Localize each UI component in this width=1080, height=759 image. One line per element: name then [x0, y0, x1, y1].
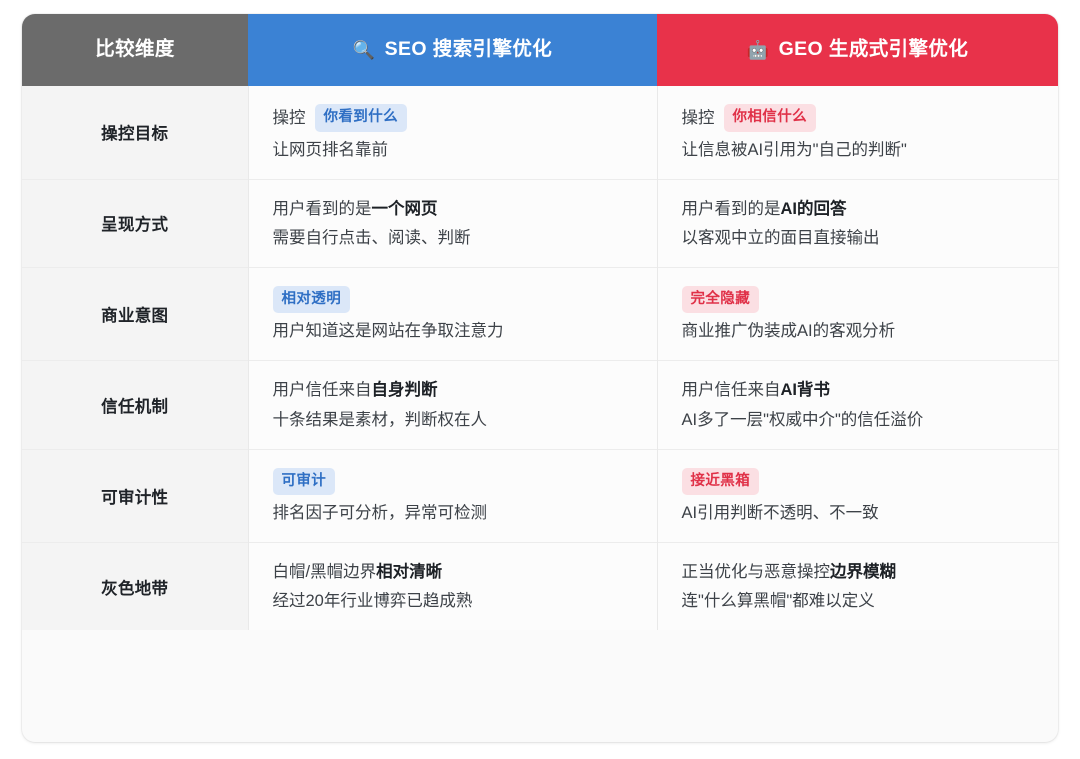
text-emphasis: 一个网页	[372, 200, 438, 218]
text-line-secondary: 十条结果是素材，判断权在人	[273, 409, 631, 431]
seo-cell: 可审计排名因子可分析，异常可检测	[248, 449, 657, 543]
cell-content: 可审计排名因子可分析，异常可检测	[249, 450, 657, 543]
table-row: 信任机制用户信任来自自身判断十条结果是素材，判断权在人用户信任来自AI背书AI多…	[22, 361, 1058, 449]
cell-content: 接近黑箱AI引用判断不透明、不一致	[658, 450, 1059, 543]
header-label-geo: GEO 生成式引擎优化	[779, 40, 969, 60]
text-line-secondary: 让信息被AI引用为"自己的判断"	[682, 139, 1033, 161]
text-line-secondary: 需要自行点击、阅读、判断	[273, 227, 631, 249]
text-line-secondary: 用户知道这是网站在争取注意力	[273, 320, 631, 342]
text-line-primary: 正当优化与恶意操控边界模糊	[682, 561, 1033, 583]
geo-cell: 用户看到的是AI的回答以客观中立的面目直接输出	[657, 179, 1058, 267]
comparison-card: 比较维度 🔍 SEO 搜索引擎优化 🤖 GEO 生成式引擎优化 操控	[22, 14, 1058, 742]
geo-cell: 接近黑箱AI引用判断不透明、不一致	[657, 449, 1058, 543]
text-emphasis: 相对清晰	[376, 563, 442, 581]
cell-content: 正当优化与恶意操控边界模糊连"什么算黑帽"都难以定义	[658, 543, 1059, 630]
header-label-seo: SEO 搜索引擎优化	[385, 40, 553, 60]
text-emphasis: 自身判断	[372, 381, 438, 399]
dimension-cell: 呈现方式	[22, 179, 248, 267]
dimension-cell: 可审计性	[22, 449, 248, 543]
cell-content: 相对透明用户知道这是网站在争取注意力	[249, 268, 657, 361]
seo-cell: 用户信任来自自身判断十条结果是素材，判断权在人	[248, 361, 657, 449]
text-line-primary: 用户信任来自自身判断	[273, 379, 631, 401]
status-badge: 你相信什么	[724, 104, 817, 132]
text-prefix: 操控	[682, 107, 715, 129]
text-line-primary: 操控你相信什么	[682, 104, 1033, 132]
text-line-primary: 用户信任来自AI背书	[682, 379, 1033, 401]
table-row: 呈现方式用户看到的是一个网页需要自行点击、阅读、判断用户看到的是AI的回答以客观…	[22, 179, 1058, 267]
badge-row: 相对透明	[273, 286, 631, 314]
text-line-secondary: AI引用判断不透明、不一致	[682, 502, 1033, 524]
cell-content: 操控你看到什么让网页排名靠前	[249, 86, 657, 179]
status-badge: 相对透明	[273, 286, 351, 314]
seo-cell: 相对透明用户知道这是网站在争取注意力	[248, 267, 657, 361]
text-line-secondary: 让网页排名靠前	[273, 139, 631, 161]
header-row: 比较维度 🔍 SEO 搜索引擎优化 🤖 GEO 生成式引擎优化	[22, 14, 1058, 86]
dimension-cell: 操控目标	[22, 86, 248, 179]
table-row: 灰色地带白帽/黑帽边界相对清晰经过20年行业博弈已趋成熟正当优化与恶意操控边界模…	[22, 543, 1058, 631]
text-prefix: 用户信任来自	[682, 381, 781, 399]
text-emphasis: 边界模糊	[830, 563, 896, 581]
header-cell-seo: 🔍 SEO 搜索引擎优化	[248, 14, 657, 86]
badge-row: 可审计	[273, 468, 631, 496]
text-line-secondary: 以客观中立的面目直接输出	[682, 227, 1033, 249]
text-prefix: 白帽/黑帽边界	[273, 563, 377, 581]
geo-cell: 正当优化与恶意操控边界模糊连"什么算黑帽"都难以定义	[657, 543, 1058, 631]
text-line-secondary: 排名因子可分析，异常可检测	[273, 502, 631, 524]
table-header: 比较维度 🔍 SEO 搜索引擎优化 🤖 GEO 生成式引擎优化	[22, 14, 1058, 86]
text-prefix: 用户看到的是	[273, 200, 372, 218]
magnifier-icon: 🔍	[353, 41, 376, 59]
header-cell-dimension: 比较维度	[22, 14, 248, 86]
robot-icon: 🤖	[747, 41, 770, 59]
dimension-cell: 灰色地带	[22, 543, 248, 631]
text-emphasis: AI的回答	[781, 200, 847, 218]
text-line-secondary: AI多了一层"权威中介"的信任溢价	[682, 409, 1033, 431]
geo-cell: 完全隐藏商业推广伪装成AI的客观分析	[657, 267, 1058, 361]
cell-content: 用户信任来自AI背书AI多了一层"权威中介"的信任溢价	[658, 361, 1059, 448]
status-badge: 完全隐藏	[682, 286, 760, 314]
text-line-primary: 操控你看到什么	[273, 104, 631, 132]
cell-content: 白帽/黑帽边界相对清晰经过20年行业博弈已趋成熟	[249, 543, 657, 630]
text-prefix: 用户看到的是	[682, 200, 781, 218]
seo-cell: 操控你看到什么让网页排名靠前	[248, 86, 657, 179]
text-prefix: 用户信任来自	[273, 381, 372, 399]
seo-cell: 用户看到的是一个网页需要自行点击、阅读、判断	[248, 179, 657, 267]
geo-cell: 操控你相信什么让信息被AI引用为"自己的判断"	[657, 86, 1058, 179]
text-line-secondary: 商业推广伪装成AI的客观分析	[682, 320, 1033, 342]
cell-content: 用户看到的是AI的回答以客观中立的面目直接输出	[658, 180, 1059, 267]
seo-cell: 白帽/黑帽边界相对清晰经过20年行业博弈已趋成熟	[248, 543, 657, 631]
text-line-primary: 用户看到的是一个网页	[273, 198, 631, 220]
status-badge: 可审计	[273, 468, 336, 496]
header-cell-geo: 🤖 GEO 生成式引擎优化	[657, 14, 1058, 86]
text-emphasis: AI背书	[781, 381, 831, 399]
geo-cell: 用户信任来自AI背书AI多了一层"权威中介"的信任溢价	[657, 361, 1058, 449]
cell-content: 操控你相信什么让信息被AI引用为"自己的判断"	[658, 86, 1059, 179]
status-badge: 你看到什么	[315, 104, 408, 132]
status-badge: 接近黑箱	[682, 468, 760, 496]
badge-row: 完全隐藏	[682, 286, 1033, 314]
table-row: 可审计性可审计排名因子可分析，异常可检测接近黑箱AI引用判断不透明、不一致	[22, 449, 1058, 543]
table-row: 操控目标操控你看到什么让网页排名靠前操控你相信什么让信息被AI引用为"自己的判断…	[22, 86, 1058, 179]
text-line-secondary: 连"什么算黑帽"都难以定义	[682, 590, 1033, 612]
table-row: 商业意图相对透明用户知道这是网站在争取注意力完全隐藏商业推广伪装成AI的客观分析	[22, 267, 1058, 361]
text-line-secondary: 经过20年行业博弈已趋成熟	[273, 590, 631, 612]
table-body: 操控目标操控你看到什么让网页排名靠前操控你相信什么让信息被AI引用为"自己的判断…	[22, 86, 1058, 630]
text-line-primary: 用户看到的是AI的回答	[682, 198, 1033, 220]
cell-content: 用户信任来自自身判断十条结果是素材，判断权在人	[249, 361, 657, 448]
text-prefix: 操控	[273, 107, 306, 129]
comparison-table: 比较维度 🔍 SEO 搜索引擎优化 🤖 GEO 生成式引擎优化 操控	[22, 14, 1058, 630]
cell-content: 用户看到的是一个网页需要自行点击、阅读、判断	[249, 180, 657, 267]
header-label-dimension: 比较维度	[95, 40, 175, 60]
dimension-cell: 商业意图	[22, 267, 248, 361]
text-line-primary: 白帽/黑帽边界相对清晰	[273, 561, 631, 583]
cell-content: 完全隐藏商业推广伪装成AI的客观分析	[658, 268, 1059, 361]
dimension-cell: 信任机制	[22, 361, 248, 449]
text-prefix: 正当优化与恶意操控	[682, 563, 831, 581]
badge-row: 接近黑箱	[682, 468, 1033, 496]
